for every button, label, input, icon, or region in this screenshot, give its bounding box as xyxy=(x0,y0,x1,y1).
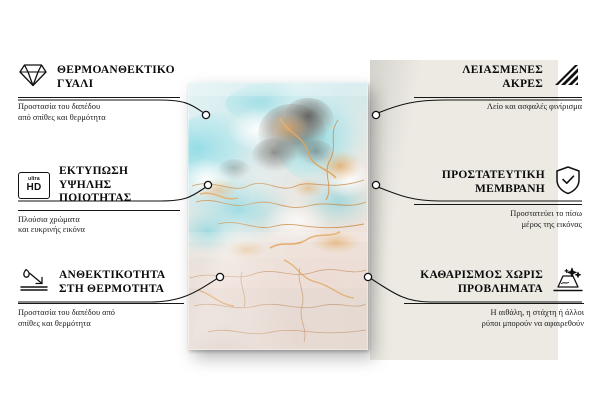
sparkle-clean-icon xyxy=(552,266,584,299)
feature-easy-cleaning: ΚΑΘΑΡΙΣΜΟΣ ΧΩΡΙΣ ΠΡΟΒΛΗΜΑΤΑ Η αιθάλη, η … xyxy=(404,266,584,329)
feature-divider xyxy=(414,97,582,98)
feature-description: Προστασία του δαπέδου από σπίθες και θερ… xyxy=(18,308,184,329)
feature-description: Λείο και ασφαλές φινίρισμα xyxy=(414,102,582,113)
feature-description: Προστασία του δαπέδου από σπίθες και θερ… xyxy=(18,102,180,123)
feature-title: ΑΝΘΕΚΤΙΚΟΤΗΤΑ ΣΤΗ ΘΕΡΜΟΤΗΤΑ xyxy=(59,269,165,296)
polished-edge-icon xyxy=(552,62,582,93)
feature-title: ΕΚΤΥΠΩΣΗ ΥΨΗΛΗΣ ΠΟΙΟΤΗΤΑΣ xyxy=(59,165,180,206)
marble-artwork-svg xyxy=(188,82,368,350)
feature-divider xyxy=(18,210,180,211)
feature-divider xyxy=(18,97,180,98)
feature-title: ΠΡΟΣΤΑΤΕΥΤΙΚΗ ΜΕΜΒΡΑΝΗ xyxy=(442,169,545,196)
feature-divider xyxy=(404,303,584,304)
feature-divider xyxy=(414,204,582,205)
heat-deflect-icon xyxy=(18,266,50,299)
product-glass-panel xyxy=(188,82,368,350)
feature-title: ΘΕΡΜΟΑΝΘΕΚΤΙΚΟ ΓΥΑΛΙ xyxy=(57,64,175,91)
feature-heat-durability: ΑΝΘΕΚΤΙΚΟΤΗΤΑ ΣΤΗ ΘΕΡΜΟΤΗΤΑ Προστασία το… xyxy=(18,266,184,329)
ultra-hd-icon: ultra HD xyxy=(18,172,50,199)
feature-polished-edges: ΛΕΙΑΣΜΕΝΕΣ ΑΚΡΕΣ Λείο και ασφαλές φινίρι… xyxy=(414,62,582,113)
feature-title: ΚΑΘΑΡΙΣΜΟΣ ΧΩΡΙΣ ΠΡΟΒΛΗΜΑΤΑ xyxy=(420,269,543,296)
feature-protective-membrane: ΠΡΟΣΤΑΤΕΥΤΙΚΗ ΜΕΜΒΡΑΝΗ Προστατεύει το πί… xyxy=(414,165,582,230)
feature-description: Προστατεύει το πίσω μέρος της εικόνας xyxy=(414,209,582,230)
feature-high-quality-print: ultra HD ΕΚΤΥΠΩΣΗ ΥΨΗΛΗΣ ΠΟΙΟΤΗΤΑΣ Πλούσ… xyxy=(18,165,180,236)
feature-heat-resistant-glass: ΘΕΡΜΟΑΝΘΕΚΤΙΚΟ ΓΥΑΛΙ Προστασία του δαπέδ… xyxy=(18,62,180,123)
feature-description: Πλούσια χρώματα και ευκρινής εικόνα xyxy=(18,215,180,236)
feature-description: Η αιθάλη, η στάχτη ή άλλοι ρύποι μπορούν… xyxy=(404,308,584,329)
infographic-stage: ΘΕΡΜΟΑΝΘΕΚΤΙΚΟ ΓΥΑΛΙ Προστασία του δαπέδ… xyxy=(0,0,600,400)
feature-divider xyxy=(18,303,184,304)
feature-title: ΛΕΙΑΣΜΕΝΕΣ ΑΚΡΕΣ xyxy=(462,64,543,91)
diamond-icon xyxy=(18,62,48,93)
product-artwork xyxy=(188,82,368,350)
shield-check-icon xyxy=(554,165,582,200)
ultra-hd-icon-hd-label: HD xyxy=(26,183,41,193)
